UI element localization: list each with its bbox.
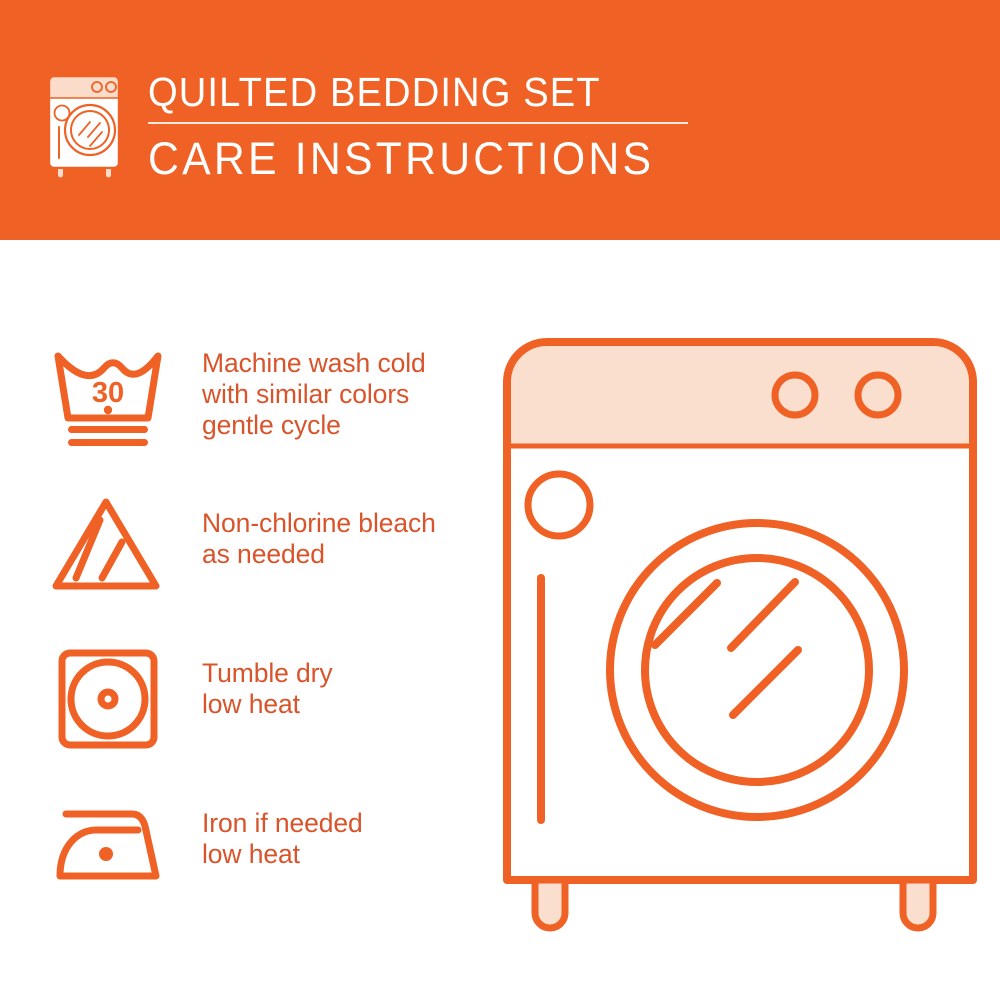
care-item-text: Non-chlorine bleach as needed bbox=[202, 508, 436, 570]
care-text-line: as needed bbox=[202, 539, 436, 570]
tumble-dry-low-heat-icon bbox=[44, 640, 172, 758]
washing-machine-icon bbox=[45, 72, 131, 180]
non-chlorine-bleach-triangle-icon bbox=[44, 490, 172, 608]
care-text-line: low heat bbox=[202, 689, 333, 720]
care-item-text: Iron if needed low heat bbox=[202, 808, 363, 870]
care-text-line: gentle cycle bbox=[202, 410, 426, 441]
wash-temperature-label: 30 bbox=[92, 377, 124, 409]
care-text-line: Tumble dry bbox=[202, 658, 333, 689]
header-divider bbox=[148, 122, 688, 124]
care-text-line: Iron if needed bbox=[202, 808, 363, 839]
care-item-iron: Iron if needed low heat bbox=[0, 790, 500, 940]
header-text-block: QUILTED BEDDING SET CARE INSTRUCTIONS bbox=[148, 68, 708, 185]
care-item-text: Machine wash cold with similar colors ge… bbox=[202, 348, 426, 441]
wash-tub-30-gentle-icon: 30 bbox=[44, 340, 172, 458]
care-item-bleach: Non-chlorine bleach as needed bbox=[0, 490, 500, 640]
machine-leg-left bbox=[535, 880, 565, 928]
care-item-tumble-dry: Tumble dry low heat bbox=[0, 640, 500, 790]
header-banner: QUILTED BEDDING SET CARE INSTRUCTIONS bbox=[0, 0, 1000, 240]
front-load-washing-machine-illustration bbox=[495, 330, 985, 940]
page-subtitle: CARE INSTRUCTIONS bbox=[148, 133, 680, 185]
page-title: QUILTED BEDDING SET bbox=[148, 68, 669, 116]
care-text-line: Machine wash cold bbox=[202, 348, 426, 379]
machine-leg-right bbox=[903, 880, 933, 928]
care-text-line: low heat bbox=[202, 839, 363, 870]
iron-low-heat-icon bbox=[44, 790, 172, 908]
care-text-line: with similar colors bbox=[202, 379, 426, 410]
care-instructions-infographic: QUILTED BEDDING SET CARE INSTRUCTIONS 30… bbox=[0, 0, 1000, 1000]
care-text-line: Non-chlorine bleach bbox=[202, 508, 436, 539]
care-item-machine-wash: 30 Machine wash cold with similar colors… bbox=[0, 340, 500, 490]
care-instructions-list: 30 Machine wash cold with similar colors… bbox=[0, 240, 500, 1000]
care-item-text: Tumble dry low heat bbox=[202, 658, 333, 720]
